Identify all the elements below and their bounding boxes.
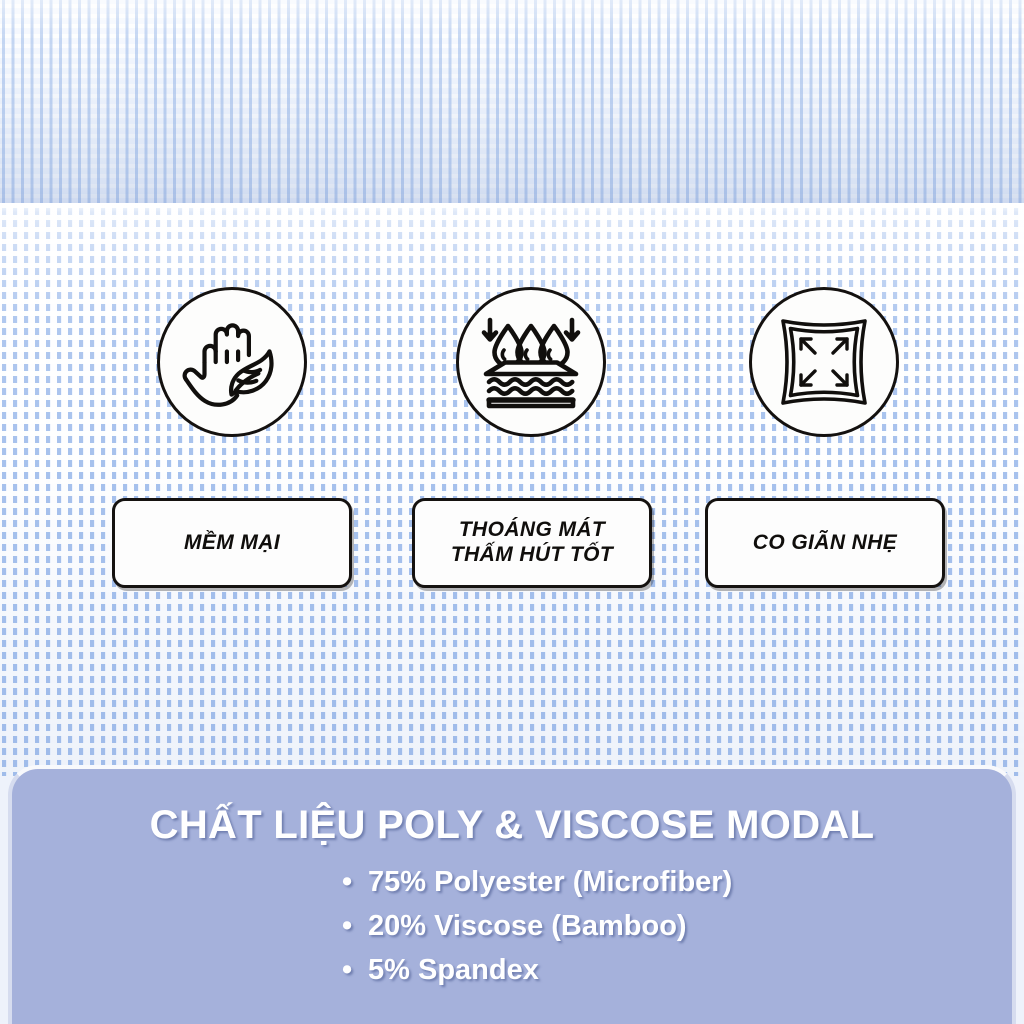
stretch-square-arrows-icon xyxy=(774,312,874,412)
infographic-canvas: MỀM MẠI THOÁNG MÁT THẤM HÚT TỐT CO GIÃN … xyxy=(0,0,1024,1024)
composition-item: 75% Polyester (Microfiber) xyxy=(342,860,1012,904)
feature-icon-badge-1 xyxy=(157,287,307,437)
feature-icon-badge-3 xyxy=(749,287,899,437)
water-absorb-fabric-icon xyxy=(479,310,583,414)
feature-icon-row xyxy=(0,287,1024,439)
composition-list: 75% Polyester (Microfiber) 20% Viscose (… xyxy=(12,860,1012,992)
material-info-panel: CHẤT LIỆU POLY & VISCOSE MODAL 75% Polye… xyxy=(8,765,1016,1024)
hand-feather-icon xyxy=(180,310,284,414)
panel-title: CHẤT LIỆU POLY & VISCOSE MODAL xyxy=(12,803,1012,848)
composition-item: 5% Spandex xyxy=(342,948,1012,992)
fabric-shading-top xyxy=(0,0,1024,208)
fabric-background-roll xyxy=(0,0,1024,208)
composition-item: 20% Viscose (Bamboo) xyxy=(342,904,1012,948)
feature-label-3-line-1: CO GIÃN NHẸ xyxy=(753,531,897,556)
feature-label-box-2[interactable]: THOÁNG MÁT THẤM HÚT TỐT xyxy=(412,498,652,588)
feature-label-box-1[interactable]: MỀM MẠI xyxy=(112,498,352,588)
feature-label-2-line-2: THẤM HÚT TỐT xyxy=(451,543,613,568)
feature-label-1-line-1: MỀM MẠI xyxy=(184,531,280,556)
feature-label-2-line-1: THOÁNG MÁT xyxy=(459,518,605,543)
feature-icon-badge-2 xyxy=(456,287,606,437)
feature-label-box-3[interactable]: CO GIÃN NHẸ xyxy=(705,498,945,588)
